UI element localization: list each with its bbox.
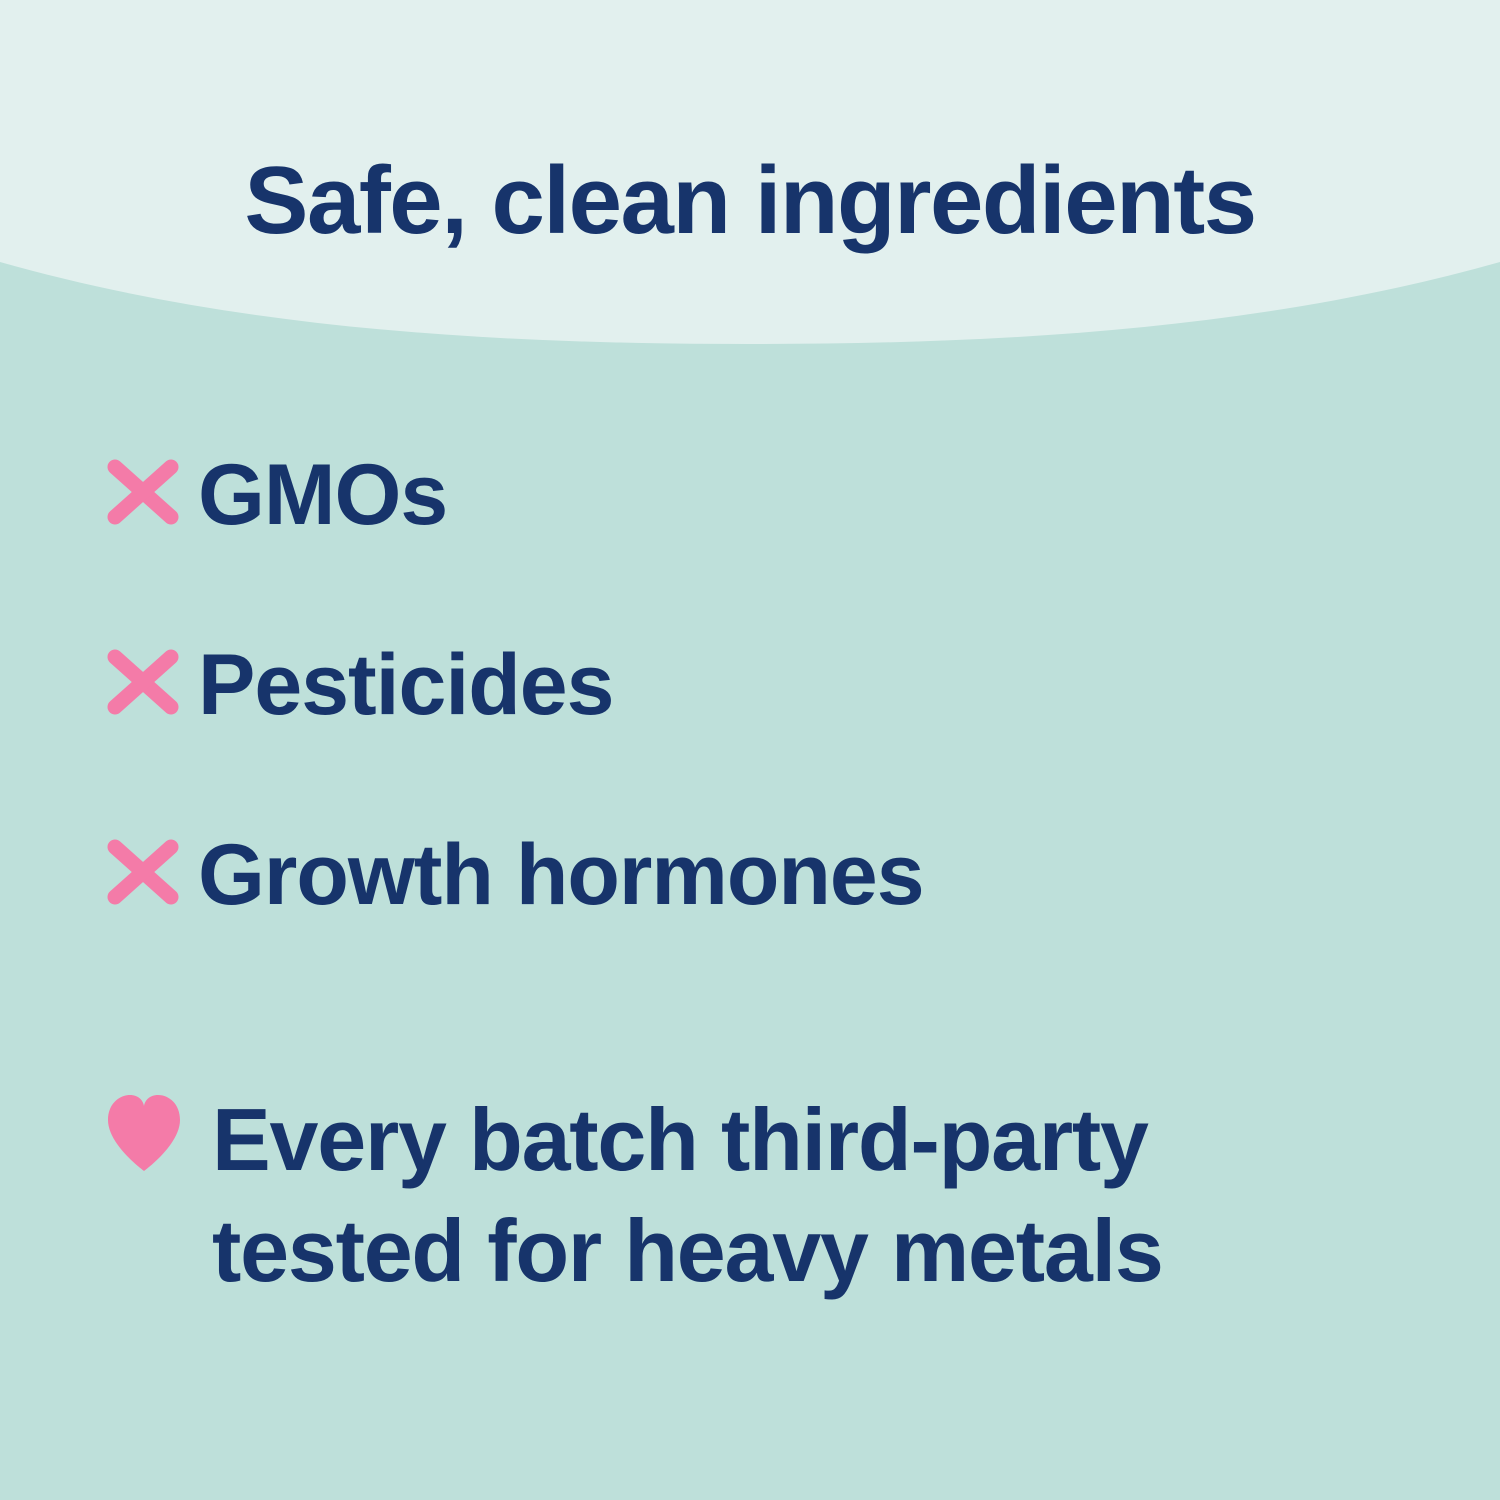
claims-row: Growth hormones [0, 830, 1500, 918]
page-title: Safe, clean ingredients [0, 150, 1500, 252]
x-mark-icon [104, 450, 182, 532]
guarantee-line-1: Every batch third-party [212, 1085, 1163, 1196]
claim-item-antibiotics: Antibiotics [694, 640, 1500, 728]
claim-item-corn-syrup: Corn syrup [694, 450, 1500, 538]
claims-content: GMOs Corn syrup [0, 360, 1500, 1500]
x-mark-icon [104, 640, 182, 722]
claim-item-gmos: GMOs [0, 450, 694, 538]
third-party-tested-statement: Every batch third-party tested for heavy… [0, 1085, 1500, 1307]
claims-row: GMOs Corn syrup [0, 450, 1500, 538]
claim-label: GMOs [198, 450, 447, 538]
claim-label: Growth hormones [198, 830, 924, 918]
x-mark-icon [104, 830, 182, 912]
claim-item-growth-hormones: Growth hormones [0, 830, 702, 918]
ingredients-claims-poster: Safe, clean ingredients GMOs [0, 0, 1500, 1500]
guarantee-line-2: tested for heavy metals [212, 1196, 1163, 1307]
guarantee-text: Every batch third-party tested for heavy… [212, 1085, 1163, 1307]
claim-item-pesticides: Pesticides [0, 640, 694, 728]
claims-row: Pesticides Antibiotics [0, 640, 1500, 728]
heart-icon [104, 1091, 184, 1177]
claim-label: Pesticides [198, 640, 613, 728]
